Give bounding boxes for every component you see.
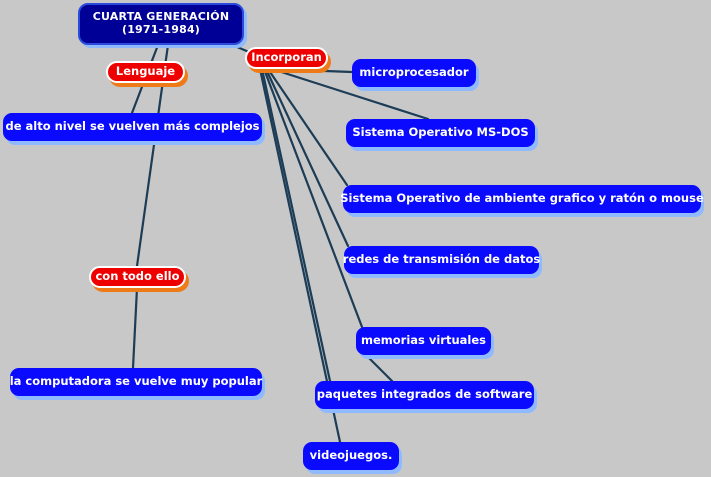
concept-node-so-grafico[interactable]: Sistema Operativo de ambiente grafico y … — [343, 185, 701, 213]
diagram-canvas: CUARTA GENERACIÓN(1971-1984)LenguajeInco… — [0, 0, 711, 477]
concept-node-computadora-popular[interactable]: la computadora se vuelve muy popular — [10, 368, 262, 396]
connector-node-lenguaje[interactable]: Lenguaje — [106, 61, 185, 83]
concept-label-alto-nivel: de alto nivel se vuelven más complejos — [5, 120, 259, 133]
concept-label-redes: redes de transmisión de datos — [343, 253, 540, 266]
concept-label-so-grafico: Sistema Operativo de ambiente grafico y … — [340, 192, 703, 205]
connector-node-incorporan[interactable]: Incorporan — [245, 47, 328, 69]
connector-label-lenguaje: Lenguaje — [116, 65, 175, 78]
root-node-cuarta-generacion[interactable]: CUARTA GENERACIÓN(1971-1984) — [78, 3, 244, 45]
concept-node-paquetes[interactable]: paquetes integrados de software — [315, 381, 534, 409]
concept-label-paquetes: paquetes integrados de software — [317, 388, 533, 401]
concept-label-memorias: memorias virtuales — [361, 334, 486, 347]
connector-node-con-todo-ello[interactable]: con todo ello — [89, 266, 186, 288]
concept-node-memorias[interactable]: memorias virtuales — [356, 327, 491, 355]
root-title-wrap: CUARTA GENERACIÓN(1971-1984) — [93, 11, 230, 36]
edge-con-todo-ello-to-computadora-popular — [133, 288, 137, 368]
edge-incorporan-to-paquetes — [262, 69, 330, 381]
concept-label-ms-dos: Sistema Operativo MS-DOS — [352, 126, 528, 139]
concept-label-videojuegos: videojuegos. — [310, 449, 393, 462]
concept-label-computadora-popular: la computadora se vuelve muy popular — [10, 375, 263, 388]
edge-incorporan-to-so-grafico — [268, 69, 347, 185]
concept-node-ms-dos[interactable]: Sistema Operativo MS-DOS — [346, 119, 535, 147]
edge-memorias-to-paquetes-link — [366, 355, 392, 381]
root-title-line2: (1971-1984) — [93, 24, 230, 37]
root-title-line1: CUARTA GENERACIÓN — [93, 10, 230, 23]
concept-label-microprocesador: microprocesador — [359, 66, 468, 79]
concept-node-microprocesador[interactable]: microprocesador — [352, 59, 476, 87]
concept-node-videojuegos[interactable]: videojuegos. — [303, 442, 399, 470]
concept-node-redes[interactable]: redes de transmisión de datos — [344, 246, 539, 274]
connector-label-con-todo-ello: con todo ello — [95, 270, 179, 283]
connector-label-incorporan: Incorporan — [251, 51, 322, 64]
edge-incorporan-to-microprocesador — [272, 69, 352, 72]
edge-incorporan-to-redes — [266, 69, 348, 246]
concept-node-alto-nivel[interactable]: de alto nivel se vuelven más complejos — [3, 113, 262, 141]
